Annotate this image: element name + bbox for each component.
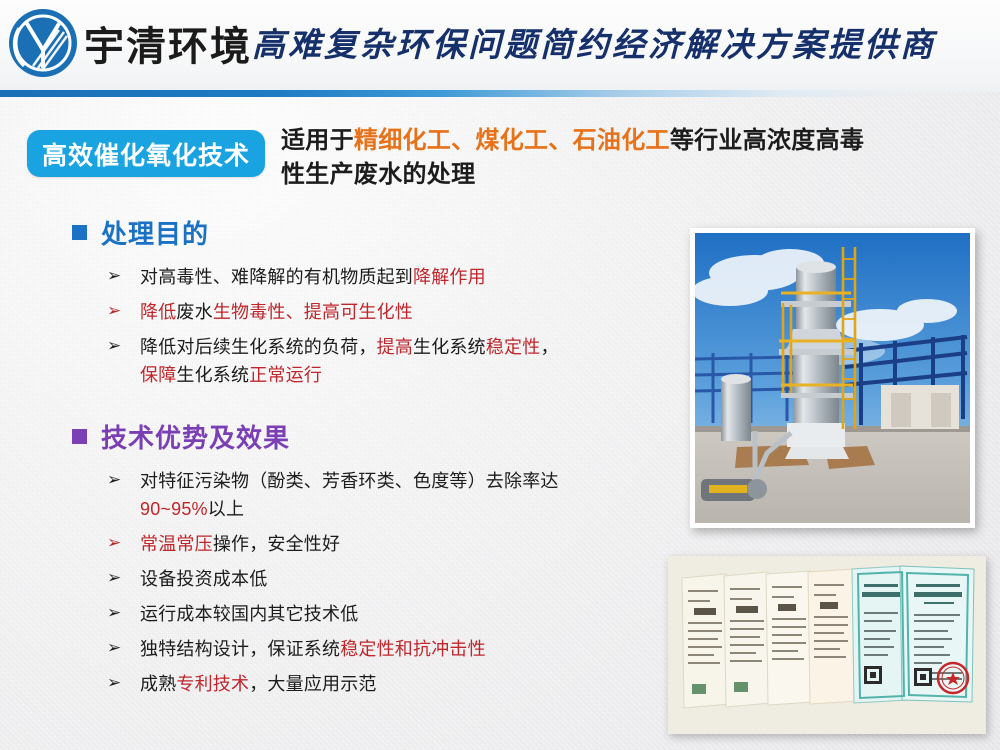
slide-root: 宇清环境 高难复杂环保问题简约经济解决方案提供商 高效催化氧化技术 适用于精细化… bbox=[0, 0, 1000, 750]
bullet-text-run: 降低对后续生化系统的负荷， bbox=[140, 337, 377, 357]
bullet-line: 90~95%以上 bbox=[140, 495, 680, 523]
bullet-text-run: 以上 bbox=[208, 499, 244, 519]
bullet-text-run: ， bbox=[540, 337, 558, 357]
square-bullet-icon bbox=[72, 225, 87, 240]
bullet-text-run: 降解作用 bbox=[413, 267, 486, 287]
title-part-b: 等行业高浓度高毒 bbox=[670, 127, 864, 154]
arrow-bullet-icon: ➢ bbox=[107, 565, 121, 592]
bullet-text-run: 设备投资成本低 bbox=[140, 569, 267, 589]
arrow-bullet-icon: ➢ bbox=[107, 333, 121, 360]
bullet-text-run: 生化系统 bbox=[176, 365, 249, 385]
bullet-item: ➢运行成本较国内其它技术低 bbox=[140, 600, 680, 628]
bullet-line: 设备投资成本低 bbox=[140, 569, 267, 589]
bullet-list: ➢对高毒性、难降解的有机物质起到降解作用➢降低废水生物毒性、提高可生化性➢降低对… bbox=[0, 263, 680, 389]
section-treatment-purpose: 处理目的 ➢对高毒性、难降解的有机物质起到降解作用➢降低废水生物毒性、提高可生化… bbox=[0, 214, 680, 396]
bullet-text-run: 对特征污染物（酚类、芳香环类、色度等）去除率达 bbox=[140, 471, 559, 491]
bullet-text-run: 提高 bbox=[377, 337, 413, 357]
bullet-text-run: 保障 bbox=[140, 365, 176, 385]
title-description: 适用于精细化工、煤化工、石油化工等行业高浓度高毒 性生产废水的处理 bbox=[281, 124, 981, 192]
square-bullet-icon bbox=[72, 429, 87, 444]
bullet-line: 常温常压操作，安全性好 bbox=[140, 534, 340, 554]
bullet-item: ➢设备投资成本低 bbox=[140, 565, 680, 593]
bullet-text-run: 成熟 bbox=[140, 674, 176, 694]
bullet-text-run: 对高毒性、难降解的有机物质起到 bbox=[140, 267, 413, 287]
arrow-bullet-icon: ➢ bbox=[107, 600, 121, 627]
bullet-text-run: 正常运行 bbox=[249, 365, 322, 385]
arrow-bullet-icon: ➢ bbox=[107, 467, 121, 494]
arrow-bullet-icon: ➢ bbox=[107, 670, 121, 697]
bullet-text-run: 稳定性 bbox=[486, 337, 541, 357]
arrow-bullet-red-icon: ➢ bbox=[107, 298, 121, 325]
title-part-a: 适用于 bbox=[281, 127, 354, 154]
bullet-text-run: 操作，安全性好 bbox=[213, 534, 340, 554]
slide-header: 宇清环境 高难复杂环保问题简约经济解决方案提供商 bbox=[0, 0, 1000, 92]
yuqing-circular-logo bbox=[6, 6, 80, 80]
bullet-text-run: 运行成本较国内其它技术低 bbox=[140, 604, 358, 624]
bullet-text-run: 生化系统 bbox=[413, 337, 486, 357]
bullet-line: 成熟专利技术，大量应用示范 bbox=[140, 674, 377, 694]
section-heading-row: 处理目的 bbox=[0, 214, 680, 251]
header-tagline: 高难复杂环保问题简约经济解决方案提供商 bbox=[252, 18, 936, 66]
bullet-line: 降低对后续生化系统的负荷，提高生化系统稳定性， bbox=[140, 337, 559, 357]
section-technical-advantages: 技术优势及效果 ➢对特征污染物（酚类、芳香环类、色度等）去除率达90~95%以上… bbox=[0, 418, 680, 706]
bullet-item: ➢对高毒性、难降解的有机物质起到降解作用 bbox=[140, 263, 680, 291]
arrow-bullet-icon: ➢ bbox=[107, 263, 121, 290]
section-title: 技术优势及效果 bbox=[101, 418, 290, 455]
bullet-line: 运行成本较国内其它技术低 bbox=[140, 604, 358, 624]
bullet-text-run: 生物毒性、提高可生化性 bbox=[213, 302, 413, 322]
bullet-line: 对特征污染物（酚类、芳香环类、色度等）去除率达 bbox=[140, 471, 559, 491]
bullet-item: ➢独特结构设计，保证系统稳定性和抗冲击性 bbox=[140, 635, 680, 663]
section-title: 处理目的 bbox=[101, 214, 209, 251]
arrow-bullet-red-icon: ➢ bbox=[107, 530, 121, 557]
title-line2: 性生产废水的处理 bbox=[281, 161, 475, 188]
header-divider-bar bbox=[0, 90, 1000, 97]
bullet-text-run: 降低 bbox=[140, 302, 176, 322]
bullet-item: ➢降低对后续生化系统的负荷，提高生化系统稳定性，保障生化系统正常运行 bbox=[140, 333, 680, 389]
bullet-text-run: 独特结构设计，保证系统 bbox=[140, 639, 340, 659]
bullet-text-run: ，大量应用示范 bbox=[249, 674, 376, 694]
bullet-line: 独特结构设计，保证系统稳定性和抗冲击性 bbox=[140, 639, 486, 659]
bullet-item: ➢成熟专利技术，大量应用示范 bbox=[140, 670, 680, 698]
bullet-item: ➢常温常压操作，安全性好 bbox=[140, 530, 680, 558]
bullet-text-run: 90~95% bbox=[140, 499, 208, 519]
bullet-item: ➢对特征污染物（酚类、芳香环类、色度等）去除率达90~95%以上 bbox=[140, 467, 680, 523]
bullet-line: 降低废水生物毒性、提高可生化性 bbox=[140, 302, 413, 322]
bullet-text-run: 常温常压 bbox=[140, 534, 213, 554]
bullet-text-run: 废水 bbox=[176, 302, 212, 322]
bullet-line: 对高毒性、难降解的有机物质起到降解作用 bbox=[140, 267, 486, 287]
technology-badge: 高效催化氧化技术 bbox=[27, 130, 265, 177]
bullet-line: 保障生化系统正常运行 bbox=[140, 361, 680, 389]
bullet-text-run: 稳定性和抗冲击性 bbox=[340, 639, 486, 659]
bullet-item: ➢降低废水生物毒性、提高可生化性 bbox=[140, 298, 680, 326]
section-heading-row: 技术优势及效果 bbox=[0, 418, 680, 455]
brand-name: 宇清环境 bbox=[84, 14, 252, 72]
bullet-list: ➢对特征污染物（酚类、芳香环类、色度等）去除率达90~95%以上➢常温常压操作，… bbox=[0, 467, 680, 699]
bullet-text-run: 专利技术 bbox=[176, 674, 249, 694]
title-highlight: 精细化工、煤化工、石油化工 bbox=[354, 127, 670, 154]
catalytic-oxidation-tower-photo bbox=[690, 228, 975, 528]
arrow-bullet-icon: ➢ bbox=[107, 635, 121, 662]
patent-certificates-photo bbox=[668, 556, 986, 734]
